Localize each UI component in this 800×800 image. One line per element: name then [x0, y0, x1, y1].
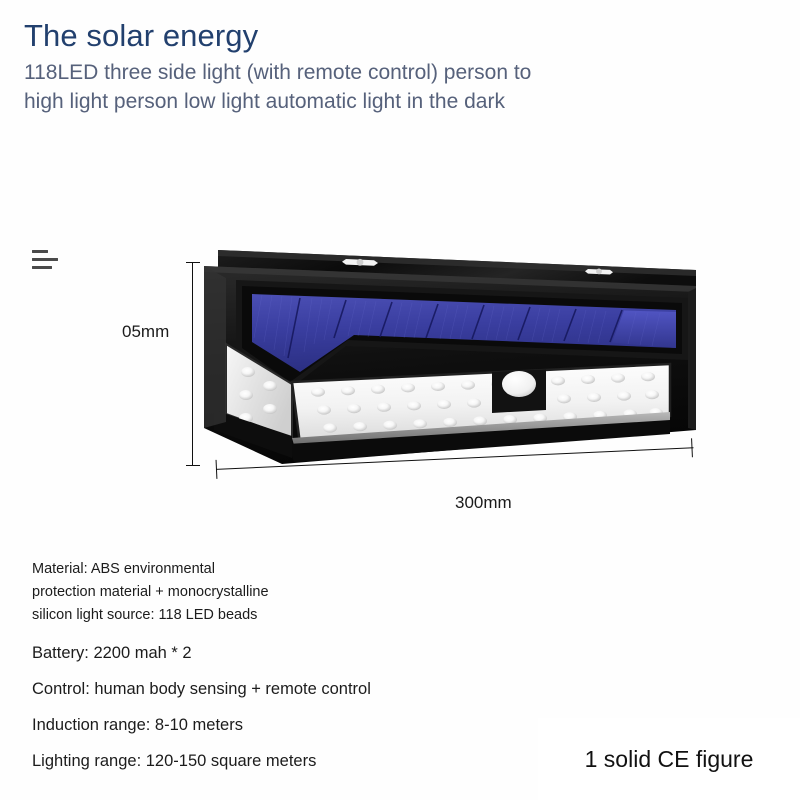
caption-text: 1 solid CE figure: [585, 746, 754, 773]
caption-panel: 1 solid CE figure: [538, 718, 800, 800]
product-right-edge: [688, 288, 696, 430]
spec-lighting-range: Lighting range: 120-150 square meters: [32, 752, 462, 771]
spec-material-line-3: silicon light source: 118 LED beads: [32, 604, 462, 627]
dimension-line-vertical-stroke: [192, 262, 193, 466]
spec-battery: Battery: 2200 mah * 2: [32, 644, 462, 663]
page-subtitle: 118LED three side light (with remote con…: [24, 58, 544, 118]
spec-induction-range: Induction range: 8-10 meters: [32, 716, 462, 735]
bars-icon: [32, 250, 62, 276]
dimension-line-vertical: [186, 260, 200, 468]
spec-material-line-1: Material: ABS environmental: [32, 558, 462, 581]
spec-control: Control: human body sensing + remote con…: [32, 680, 462, 699]
bars-icon-line-2: [32, 258, 58, 261]
bars-icon-line-3: [32, 266, 52, 269]
dimension-line-horizontal-stroke: [216, 447, 694, 470]
spec-material-line-2: protection material + monocrystalline: [32, 581, 462, 604]
page-title: The solar energy: [24, 18, 544, 54]
dimension-width-label: 300mm: [455, 493, 512, 513]
dimension-height-label: 05mm: [122, 322, 169, 342]
dimension-cap-bottom: [186, 465, 200, 466]
bars-icon-line-1: [32, 250, 48, 253]
specs-list: Material: ABS environmental protection m…: [32, 558, 462, 771]
header-block: The solar energy 118LED three side light…: [24, 18, 544, 117]
product-left-edge: [204, 266, 226, 428]
pir-motion-sensor: [492, 370, 546, 414]
